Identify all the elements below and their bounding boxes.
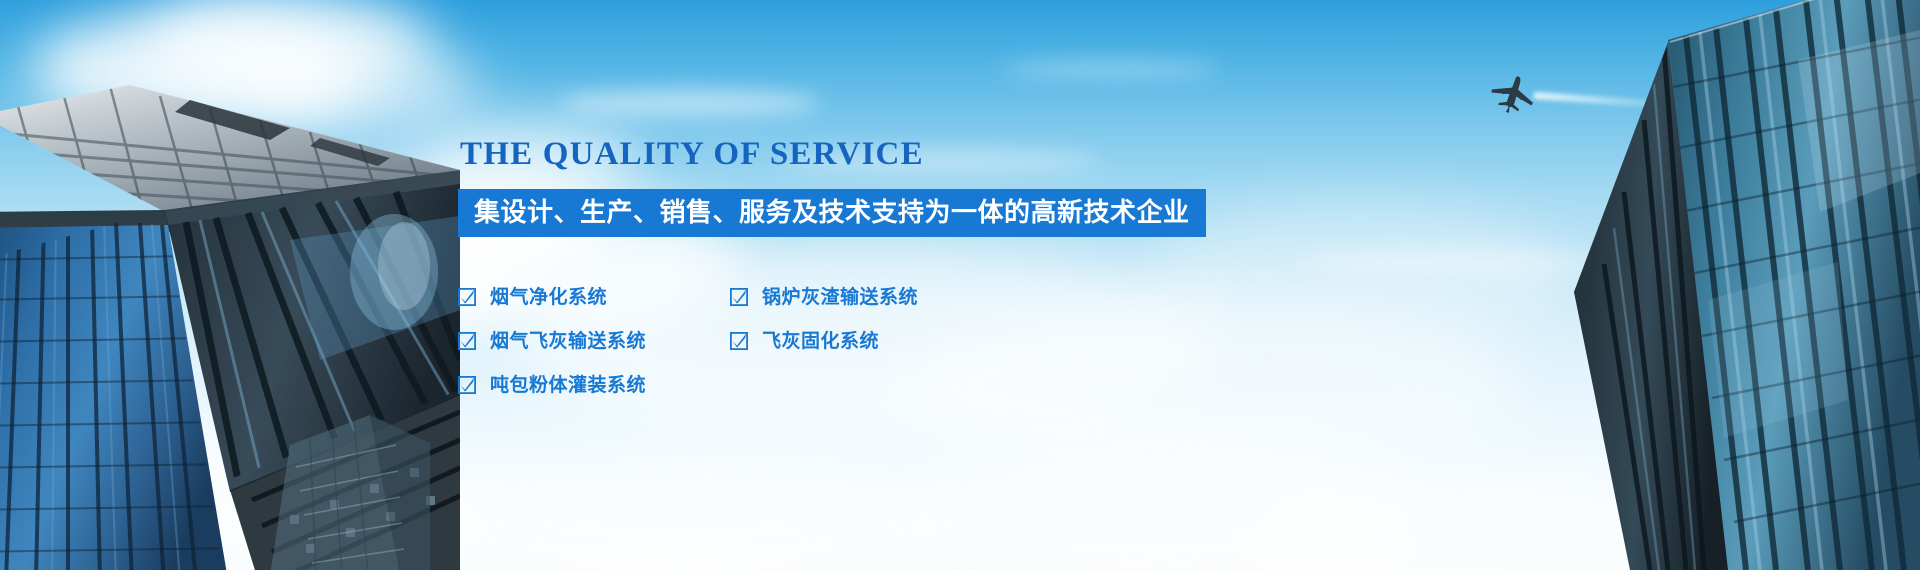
- list-item-label: 吨包粉体灌装系统: [490, 376, 646, 395]
- checkbox-checked-icon: [730, 288, 748, 306]
- skyscraper-distant: [250, 385, 430, 570]
- list-item: 烟气净化系统: [458, 288, 730, 307]
- checkbox-checked-icon: [730, 332, 748, 350]
- feature-list: 烟气净化系统 锅炉灰渣输送系统 烟气飞灰输送: [458, 275, 1218, 407]
- banner-content: THE QUALITY OF SERVICE 集设计、生产、销售、服务及技术支持…: [458, 138, 1218, 407]
- cloud-wisp: [560, 90, 820, 116]
- skyscraper-right: [1368, 0, 1920, 570]
- checkbox-checked-icon: [458, 376, 476, 394]
- checkbox-checked-icon: [458, 288, 476, 306]
- list-item-label: 烟气飞灰输送系统: [490, 332, 646, 351]
- cloud: [400, 460, 960, 570]
- list-item: 锅炉灰渣输送系统: [730, 288, 1218, 307]
- hero-banner: THE QUALITY OF SERVICE 集设计、生产、销售、服务及技术支持…: [0, 0, 1920, 570]
- tagline-bar: 集设计、生产、销售、服务及技术支持为一体的高新技术企业: [458, 189, 1206, 237]
- list-item: 烟气飞灰输送系统: [458, 332, 730, 351]
- list-item-label: 烟气净化系统: [490, 288, 607, 307]
- list-item-label: 飞灰固化系统: [762, 332, 879, 351]
- cloud-wisp: [1000, 60, 1220, 78]
- checkbox-checked-icon: [458, 332, 476, 350]
- list-item: 飞灰固化系统: [730, 332, 1218, 351]
- list-item-label: 锅炉灰渣输送系统: [762, 288, 918, 307]
- page-title: THE QUALITY OF SERVICE: [460, 138, 1218, 171]
- list-item: 吨包粉体灌装系统: [458, 376, 730, 395]
